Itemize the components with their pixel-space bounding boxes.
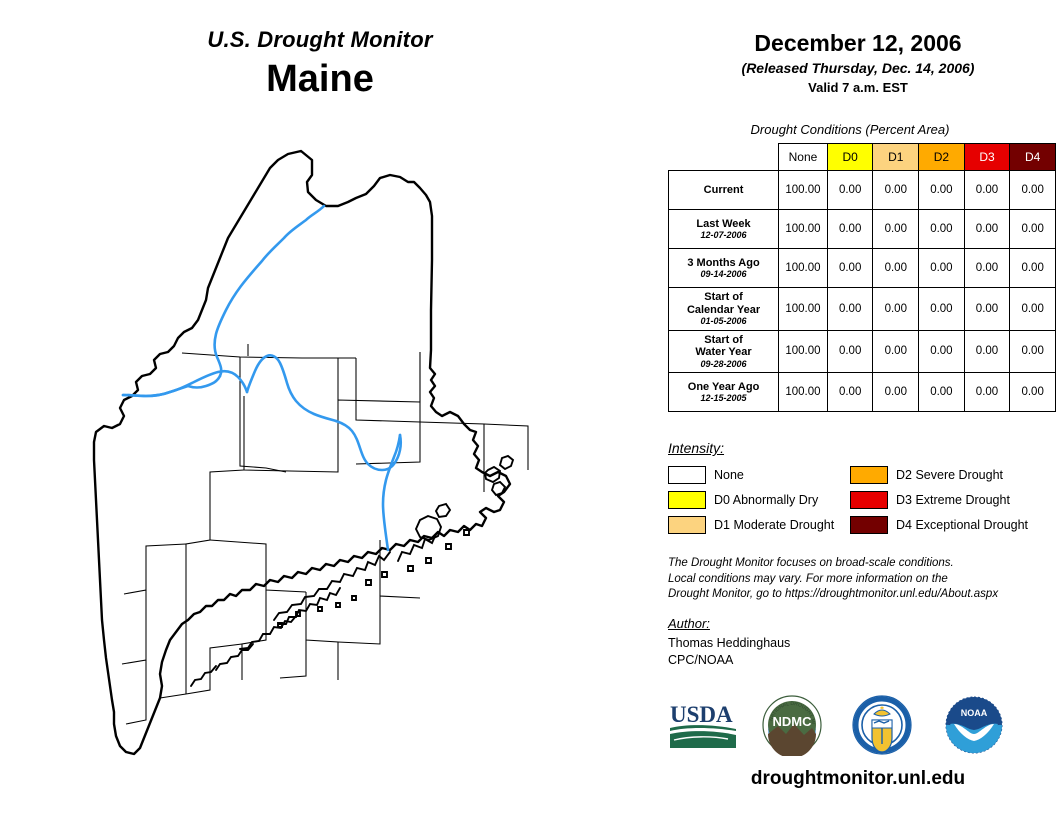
column-header-d0: D0 bbox=[827, 144, 873, 171]
column-header-d1: D1 bbox=[873, 144, 919, 171]
cell-none: 100.00 bbox=[779, 330, 828, 373]
info-panel: December 12, 2006 (Released Thursday, De… bbox=[660, 0, 1056, 816]
noaa-wordmark: NOAA bbox=[961, 708, 988, 718]
disclaimer-line-2: Local conditions may vary. For more info… bbox=[668, 572, 1048, 588]
disclaimer-line-3: Drought Monitor, go to https://droughtmo… bbox=[668, 587, 1048, 603]
drought-conditions-table-wrap: None D0 D1 D2 D3 D4 Current 100.00 0.00 bbox=[668, 143, 1056, 412]
legend-item-d2[interactable]: D2 Severe Drought bbox=[850, 466, 1048, 484]
cell-d0: 0.00 bbox=[827, 373, 873, 412]
column-header-d3: D3 bbox=[964, 144, 1010, 171]
row-label-3-months-ago: 3 Months Ago 09-14-2006 bbox=[669, 249, 779, 288]
title-block: U.S. Drought Monitor Maine bbox=[0, 28, 640, 102]
row-label-name: Start ofCalendar Year bbox=[673, 291, 774, 316]
row-label-date: 01-05-2006 bbox=[673, 316, 774, 326]
cell-none: 100.00 bbox=[779, 210, 828, 249]
cell-d2: 0.00 bbox=[919, 210, 965, 249]
cell-d0: 0.00 bbox=[827, 249, 873, 288]
site-url[interactable]: droughtmonitor.unl.edu bbox=[660, 768, 1056, 790]
row-label-current: Current bbox=[669, 171, 779, 210]
usda-logo-svg: USDA bbox=[668, 700, 740, 750]
cell-d0: 0.00 bbox=[827, 330, 873, 373]
author-block: Author: Thomas Heddinghaus CPC/NOAA bbox=[668, 616, 1048, 669]
cell-d4: 0.00 bbox=[1010, 249, 1056, 288]
cell-d4: 0.00 bbox=[1010, 288, 1056, 331]
cell-d0: 0.00 bbox=[827, 210, 873, 249]
logo-row: USDA NDMC NATIONAL DROUGHT MITIGATION CE… bbox=[660, 690, 1056, 770]
cell-d3: 0.00 bbox=[964, 288, 1010, 331]
row-label-start-of-water-year: Start ofWater Year 09-28-2006 bbox=[669, 330, 779, 373]
table-row: Start ofCalendar Year 01-05-2006 100.00 … bbox=[669, 288, 1056, 331]
row-label-start-of-calendar-year: Start ofCalendar Year 01-05-2006 bbox=[669, 288, 779, 331]
row-label-last-week: Last Week 12-07-2006 bbox=[669, 210, 779, 249]
cell-none: 100.00 bbox=[779, 288, 828, 331]
cell-d1: 0.00 bbox=[873, 373, 919, 412]
cell-d2: 0.00 bbox=[919, 288, 965, 331]
cell-d3: 0.00 bbox=[964, 330, 1010, 373]
cell-none: 100.00 bbox=[779, 171, 828, 210]
intensity-legend: Intensity: None D2 Severe Drought D0 Abn… bbox=[668, 440, 1048, 537]
legend-label-none: None bbox=[714, 468, 744, 482]
cell-d2: 0.00 bbox=[919, 373, 965, 412]
legend-swatch-d0 bbox=[668, 491, 706, 509]
cell-d3: 0.00 bbox=[964, 171, 1010, 210]
ndmc-logo[interactable]: NDMC NATIONAL DROUGHT MITIGATION CENTER bbox=[760, 694, 824, 761]
author-affiliation: CPC/NOAA bbox=[668, 652, 1048, 669]
map-panel: U.S. Drought Monitor Maine bbox=[0, 0, 660, 816]
cell-d4: 0.00 bbox=[1010, 373, 1056, 412]
legend-swatch-d1 bbox=[668, 516, 706, 534]
legend-item-none[interactable]: None bbox=[668, 466, 850, 484]
table-row: One Year Ago 12-15-2005 100.00 0.00 0.00… bbox=[669, 373, 1056, 412]
legend-item-d3[interactable]: D3 Extreme Drought bbox=[850, 491, 1048, 509]
row-label-name: Last Week bbox=[673, 218, 774, 231]
row-label-name: Start ofWater Year bbox=[673, 334, 774, 359]
cell-none: 100.00 bbox=[779, 373, 828, 412]
usda-logo[interactable]: USDA bbox=[668, 700, 740, 755]
intensity-legend-title: Intensity: bbox=[668, 440, 1048, 456]
ndmc-wordmark: NDMC bbox=[773, 714, 813, 729]
map-svg bbox=[90, 120, 590, 780]
cell-d0: 0.00 bbox=[827, 288, 873, 331]
table-body: Current 100.00 0.00 0.00 0.00 0.00 0.00 … bbox=[669, 171, 1056, 412]
table-row: 3 Months Ago 09-14-2006 100.00 0.00 0.00… bbox=[669, 249, 1056, 288]
table-header: None D0 D1 D2 D3 D4 bbox=[669, 144, 1056, 171]
valid-time: Valid 7 a.m. EST bbox=[660, 80, 1056, 95]
cell-d4: 0.00 bbox=[1010, 330, 1056, 373]
cell-d1: 0.00 bbox=[873, 249, 919, 288]
row-label-name: Current bbox=[673, 184, 774, 197]
cell-none: 100.00 bbox=[779, 249, 828, 288]
drought-conditions-table: None D0 D1 D2 D3 D4 Current 100.00 0.00 bbox=[668, 143, 1056, 412]
valid-date: December 12, 2006 bbox=[660, 30, 1056, 56]
legend-grid: None D2 Severe Drought D0 Abnormally Dry… bbox=[668, 462, 1048, 537]
cell-d2: 0.00 bbox=[919, 171, 965, 210]
usda-field bbox=[670, 731, 736, 748]
author-name: Thomas Heddinghaus bbox=[668, 635, 1048, 652]
row-label-date: 09-28-2006 bbox=[673, 359, 774, 369]
table-corner-cell bbox=[669, 144, 779, 171]
cell-d1: 0.00 bbox=[873, 288, 919, 331]
legend-swatch-none bbox=[668, 466, 706, 484]
legend-label-d2: D2 Severe Drought bbox=[896, 468, 1003, 482]
column-header-d2: D2 bbox=[919, 144, 965, 171]
table-row: Start ofWater Year 09-28-2006 100.00 0.0… bbox=[669, 330, 1056, 373]
author-label: Author: bbox=[668, 616, 1048, 631]
cell-d1: 0.00 bbox=[873, 210, 919, 249]
legend-label-d0: D0 Abnormally Dry bbox=[714, 493, 818, 507]
cell-d3: 0.00 bbox=[964, 210, 1010, 249]
row-label-name: One Year Ago bbox=[673, 381, 774, 394]
legend-label-d3: D3 Extreme Drought bbox=[896, 493, 1010, 507]
maine-drought-map[interactable] bbox=[90, 120, 590, 780]
cell-d4: 0.00 bbox=[1010, 210, 1056, 249]
program-title: U.S. Drought Monitor bbox=[0, 28, 640, 52]
state-title: Maine bbox=[0, 58, 640, 102]
doc-seal-svg bbox=[850, 694, 914, 756]
legend-item-d0[interactable]: D0 Abnormally Dry bbox=[668, 491, 850, 509]
column-header-none: None bbox=[779, 144, 828, 171]
state-outline-maine bbox=[94, 151, 510, 754]
cell-d1: 0.00 bbox=[873, 330, 919, 373]
date-block: December 12, 2006 (Released Thursday, De… bbox=[660, 30, 1056, 95]
usda-wordmark: USDA bbox=[670, 702, 733, 727]
cell-d2: 0.00 bbox=[919, 330, 965, 373]
row-label-date: 12-07-2006 bbox=[673, 230, 774, 240]
legend-swatch-d3 bbox=[850, 491, 888, 509]
row-label-name: 3 Months Ago bbox=[673, 257, 774, 270]
cell-d3: 0.00 bbox=[964, 373, 1010, 412]
doc-seal[interactable] bbox=[850, 694, 914, 761]
cell-d3: 0.00 bbox=[964, 249, 1010, 288]
legend-item-d1[interactable]: D1 Moderate Drought bbox=[668, 516, 850, 534]
table-row: Last Week 12-07-2006 100.00 0.00 0.00 0.… bbox=[669, 210, 1056, 249]
disclaimer: The Drought Monitor focuses on broad-sca… bbox=[668, 556, 1048, 603]
column-header-d4: D4 bbox=[1010, 144, 1056, 171]
noaa-logo-svg: NOAA bbox=[942, 694, 1006, 756]
table-row: Current 100.00 0.00 0.00 0.00 0.00 0.00 bbox=[669, 171, 1056, 210]
noaa-logo[interactable]: NOAA bbox=[942, 694, 1006, 761]
ndmc-logo-svg: NDMC NATIONAL DROUGHT MITIGATION CENTER bbox=[760, 694, 824, 756]
table-header-row: None D0 D1 D2 D3 D4 bbox=[669, 144, 1056, 171]
legend-label-d4: D4 Exceptional Drought bbox=[896, 518, 1028, 532]
disclaimer-line-1: The Drought Monitor focuses on broad-sca… bbox=[668, 556, 1048, 572]
cell-d2: 0.00 bbox=[919, 249, 965, 288]
released-date: (Released Thursday, Dec. 14, 2006) bbox=[660, 60, 1056, 76]
legend-label-d1: D1 Moderate Drought bbox=[714, 518, 834, 532]
row-label-one-year-ago: One Year Ago 12-15-2005 bbox=[669, 373, 779, 412]
cell-d1: 0.00 bbox=[873, 171, 919, 210]
table-caption: Drought Conditions (Percent Area) bbox=[660, 122, 1040, 137]
legend-item-d4[interactable]: D4 Exceptional Drought bbox=[850, 516, 1048, 534]
legend-swatch-d4 bbox=[850, 516, 888, 534]
row-label-date: 09-14-2006 bbox=[673, 269, 774, 279]
cell-d0: 0.00 bbox=[827, 171, 873, 210]
legend-swatch-d2 bbox=[850, 466, 888, 484]
cell-d4: 0.00 bbox=[1010, 171, 1056, 210]
row-label-date: 12-15-2005 bbox=[673, 393, 774, 403]
